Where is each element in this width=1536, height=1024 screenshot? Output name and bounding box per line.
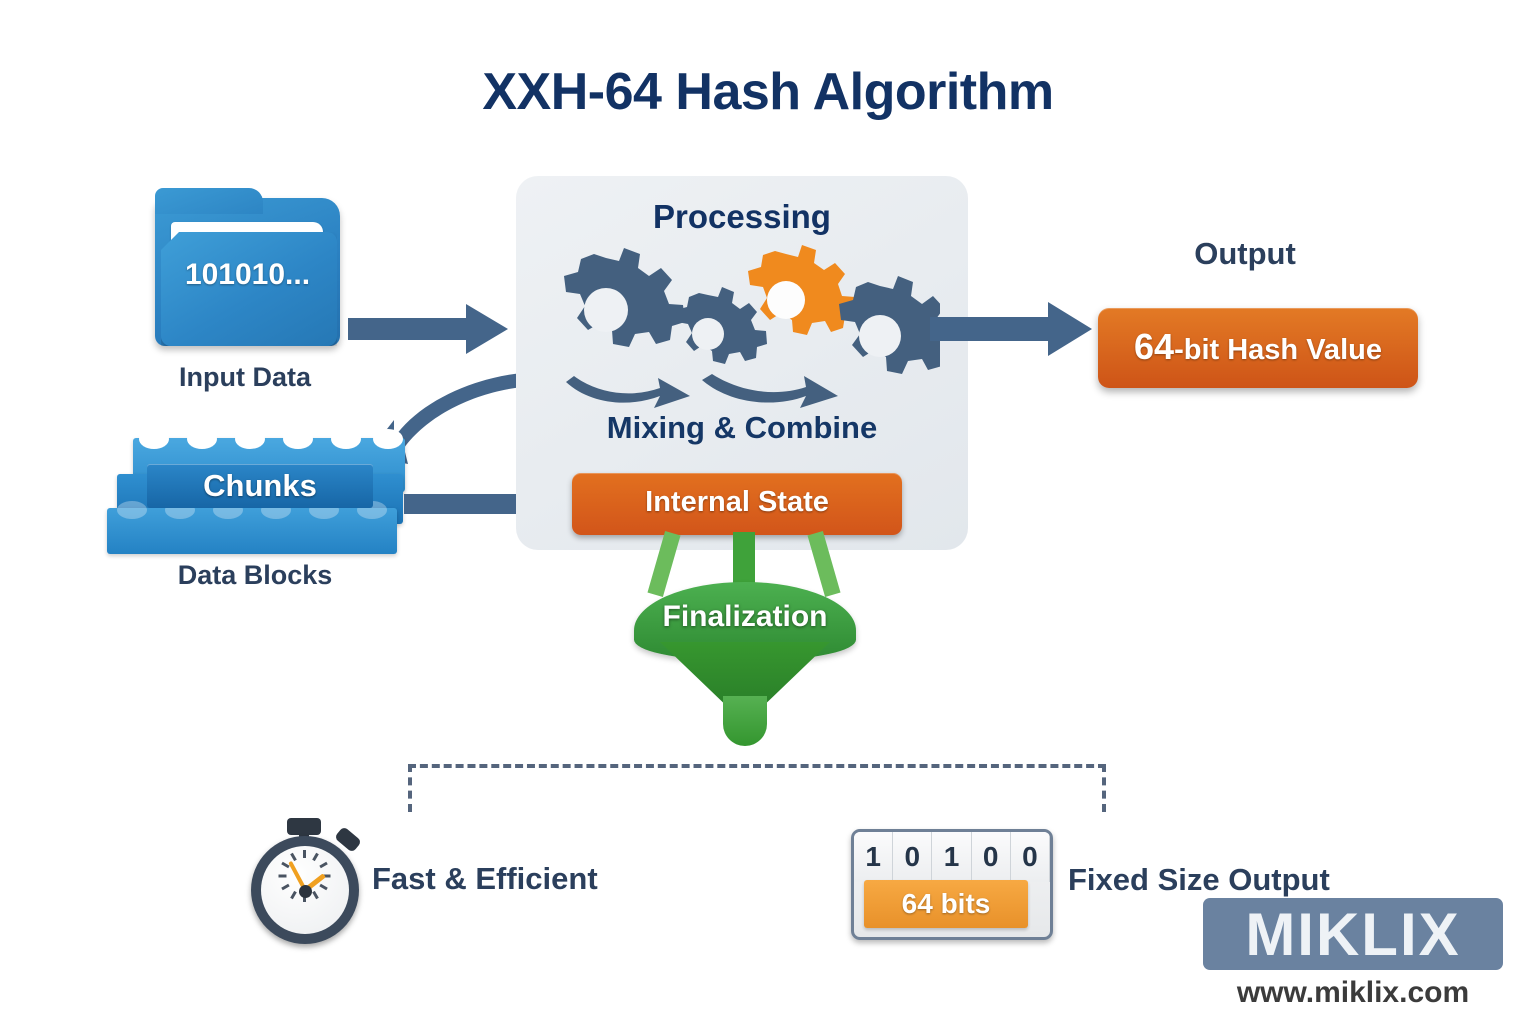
bit-cells-row: 1 0 1 0 0	[854, 832, 1050, 882]
internal-state-badge: Internal State	[572, 473, 902, 535]
chunk-notches-bottom	[107, 508, 397, 554]
data-blocks-label: Data Blocks	[130, 560, 380, 591]
folder-tab-shape	[155, 188, 263, 214]
hash-value-badge: 64-bit Hash Value	[1098, 308, 1418, 388]
bit-grid-icon: 1 0 1 0 0 64 bits	[851, 829, 1053, 940]
funnel-leg-left	[647, 531, 680, 597]
bit-cell: 1	[932, 832, 971, 882]
input-data-label: Input Data	[120, 362, 370, 393]
processing-title: Processing	[516, 198, 968, 236]
stopwatch-icon	[243, 814, 368, 939]
fixed-size-output-label: Fixed Size Output	[1068, 862, 1418, 898]
watermark-brand: MIKLIX	[1245, 900, 1460, 969]
mixing-combine-label: Mixing & Combine	[516, 410, 968, 446]
hash-bits-number: 64	[1134, 326, 1174, 367]
bit-cell: 0	[972, 832, 1011, 882]
finalization-funnel: Finalization	[620, 530, 870, 745]
internal-state-label: Internal State	[572, 486, 902, 519]
gear-arrow-1	[566, 376, 690, 408]
hash-bits-suffix: -bit Hash Value	[1174, 334, 1382, 366]
gear-3-icon	[748, 245, 857, 335]
output-label: Output	[1120, 236, 1370, 272]
stopwatch-center-pin	[299, 885, 312, 898]
feature-bracket	[408, 764, 1106, 812]
gear-arrow-2	[702, 374, 838, 408]
gear-1-icon	[564, 248, 685, 347]
funnel-leg-right	[807, 531, 840, 597]
fast-efficient-label: Fast & Efficient	[372, 861, 692, 897]
funnel-spout-shape	[723, 696, 767, 746]
gear-flow-arrows	[550, 346, 940, 416]
hash-value-text: 64-bit Hash Value	[1098, 326, 1418, 368]
bits-size-label: 64 bits	[864, 888, 1028, 920]
watermark-logo: MIKLIX	[1203, 898, 1503, 970]
input-bits-text: 101010...	[155, 258, 340, 292]
page-title: XXH-64 Hash Algorithm	[0, 62, 1536, 122]
watermark-url: www.miklix.com	[1203, 976, 1503, 1010]
funnel-cone-shape	[660, 642, 830, 704]
bit-cell: 1	[854, 832, 893, 882]
arrow-processing-to-output	[930, 300, 1100, 360]
chunks-badge-label: Chunks	[147, 468, 373, 504]
bits-size-bar: 64 bits	[864, 880, 1028, 928]
finalization-label: Finalization	[620, 600, 870, 634]
chunk-row-bottom	[107, 508, 397, 554]
data-blocks-icon: Chunks	[105, 438, 410, 554]
bit-cell: 0	[1011, 832, 1050, 882]
diagram-canvas: XXH-64 Hash Algorithm 101010... Input Da…	[0, 0, 1536, 1024]
chunks-badge: Chunks	[147, 464, 373, 508]
input-folder-icon: 101010...	[155, 198, 340, 348]
bit-cell: 0	[893, 832, 932, 882]
arrow-input-to-processing	[348, 300, 518, 360]
